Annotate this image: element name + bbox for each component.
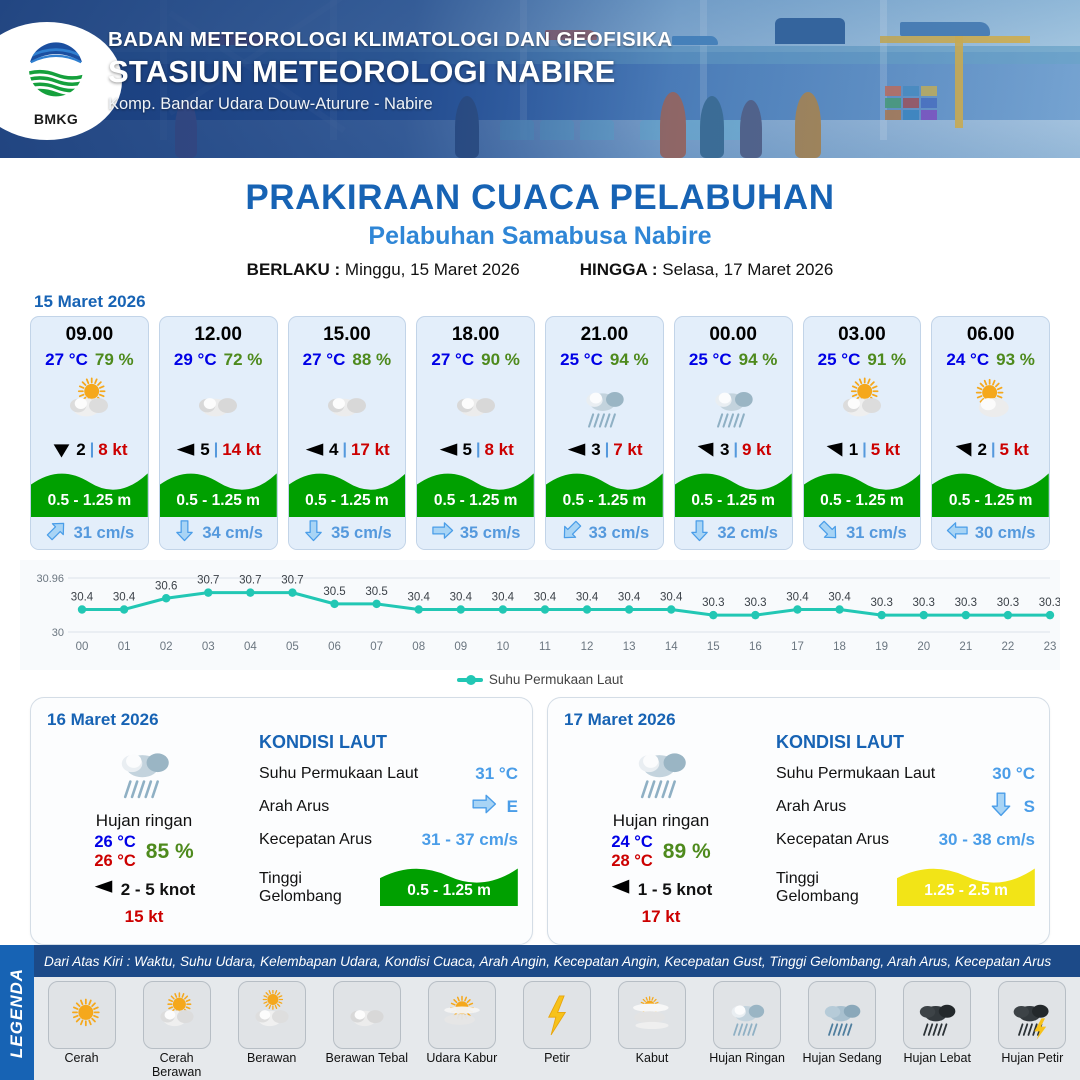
humidity: 89 % [663,840,711,864]
sea-row-value: E [507,797,518,817]
svg-text:21: 21 [959,641,972,653]
weather-icon-berawan-sun [245,990,299,1040]
wind-direction-arrow [610,877,631,903]
wind-direction-arrow [51,440,72,461]
separator: | [605,441,609,459]
forecast-time: 06.00 [932,324,1049,346]
wind-direction-icon-W [566,440,587,461]
gust-speed: 8 kt [98,440,127,460]
air-temperature: 25 °C [818,350,861,370]
weather-icon-cerah [55,990,109,1040]
wave-height-band: 0.5 - 1.25 m [31,461,148,517]
gust-speed: 17 kt [351,440,390,460]
svg-text:30.4: 30.4 [450,592,473,604]
gust-speed: 8 kt [484,440,513,460]
legend-item-label: Berawan [230,1051,314,1065]
wind-direction-icon-SW [695,440,716,461]
daily-date: 17 Maret 2026 [564,710,1033,730]
legend-item: Udara Kabur [420,981,504,1065]
hourly-forecast-card[interactable]: 00.00 25 °C 94 % 3 | 9 kt 0.5 - 1.25 m [674,316,793,550]
svg-text:30.4: 30.4 [534,592,557,604]
weather-icon-berawan [445,375,507,432]
weather-condition-label: Hujan ringan [49,811,239,831]
max-temperature: 26 °C [94,852,135,870]
svg-text:30.4: 30.4 [828,592,851,604]
svg-text:01: 01 [118,641,131,653]
wave-height-value: 0.5 - 1.25 m [160,492,277,510]
svg-text:10: 10 [496,641,509,653]
legend-item: Berawan [230,981,314,1065]
weather-condition-icon [566,732,756,809]
weather-icon-hujan-ringan [105,732,183,804]
wind-speed: 2 [76,440,85,460]
sea-row-label: Suhu Permukaan Laut [259,765,418,783]
current-direction-icon-S [173,519,196,542]
svg-text:23: 23 [1044,641,1057,653]
humidity: 94 % [739,350,778,370]
min-temperature: 24 °C [611,833,652,851]
wind-direction-arrow [438,440,459,461]
humidity: 85 % [146,840,194,864]
svg-text:18: 18 [833,641,846,653]
hourly-forecast-card[interactable]: 09.00 27 °C 79 % 2 | 8 kt 0.5 - 1.25 m 3… [30,316,149,550]
air-temperature: 25 °C [689,350,732,370]
weather-icon-berawan [187,375,249,432]
wave-height-band: 0.5 - 1.25 m [380,858,518,906]
svg-text:30.4: 30.4 [408,592,431,604]
sea-row-value: S [1024,797,1035,817]
legend-item-icon [618,981,686,1049]
current-speed: 33 cm/s [589,524,650,543]
svg-text:30.4: 30.4 [113,592,136,604]
wave-height-band: 0.5 - 1.25 m [932,461,1049,517]
wind-direction-icon-W [304,440,325,461]
current-direction-icon-W [946,519,969,542]
svg-text:04: 04 [244,641,257,653]
svg-text:30.4: 30.4 [660,592,683,604]
air-temperature: 27 °C [303,350,346,370]
wave-height-band: 0.5 - 1.25 m [546,461,663,517]
weather-icon-cerah-berawan [58,375,120,432]
header-station-name: STASIUN METEOROLOGI NABIRE [108,54,672,90]
wave-height-value: 0.5 - 1.25 m [675,492,792,510]
separator: | [862,441,866,459]
weather-icon-kabut [625,990,679,1040]
legend-item: Hujan Ringan [705,981,789,1065]
bmkg-logo-text: BMKG [17,111,95,127]
current-direction-icon-S [988,791,1014,817]
svg-text:30.7: 30.7 [281,575,303,587]
svg-text:30.3: 30.3 [1039,597,1060,609]
weather-icon-hujan-sedang [815,990,869,1040]
berlaku-label: BERLAKU : [247,260,341,279]
wind-direction-icon-S [51,440,72,461]
svg-text:11: 11 [539,641,551,653]
air-temperature: 25 °C [560,350,603,370]
legend-item-icon [998,981,1066,1049]
gust-speed: 7 kt [613,440,642,460]
svg-text:09: 09 [454,641,467,653]
weather-icon-berawan [340,990,394,1040]
legend-item-icon [48,981,116,1049]
legend-side-title: LEGENDA [0,945,34,1080]
current-speed: 35 cm/s [331,524,392,543]
wind-speed: 5 [200,440,209,460]
wind-direction-arrow [175,440,196,461]
legend-note: Dari Atas Kiri : Waktu, Suhu Udara, Kele… [34,945,1080,977]
current-direction-arrow [431,519,454,547]
wave-height-value: 0.5 - 1.25 m [417,492,534,510]
current-direction-icon-E [431,519,454,542]
air-temperature: 24 °C [946,350,989,370]
weather-icon-petir [530,990,584,1040]
current-direction-icon-NE [45,519,68,542]
wind-direction-icon-W [438,440,459,461]
hourly-forecast-card[interactable]: 15.00 27 °C 88 % 4 | 17 kt 0.5 - 1.25 m … [288,316,407,550]
svg-text:30.5: 30.5 [323,586,345,598]
forecast-time: 18.00 [417,324,534,346]
daily-forecast-panel[interactable]: 17 Maret 2026 Hujan ringan 24 °C 28 °C 8… [547,697,1050,945]
current-direction-arrow [988,791,1014,822]
sea-row-value: 31 - 37 cm/s [422,830,518,850]
legend-item: Cerah [40,981,124,1065]
svg-text:30.5: 30.5 [365,586,387,598]
gust-speed: 17 kt [566,907,756,927]
svg-text:30.4: 30.4 [71,592,94,604]
air-temperature: 29 °C [174,350,217,370]
gust-speed: 5 kt [871,440,900,460]
wind-speed: 1 [849,440,858,460]
svg-text:30.96: 30.96 [36,573,64,585]
weather-condition-icon [31,373,148,435]
svg-text:30.3: 30.3 [702,597,724,609]
legend-item-icon [808,981,876,1049]
wind-direction-icon-W2 [610,877,631,898]
legend-item-icon [713,981,781,1049]
humidity: 93 % [996,350,1035,370]
current-direction-arrow [302,519,325,547]
air-temperature: 27 °C [431,350,474,370]
legend-item-icon [238,981,306,1049]
page-subtitle: Pelabuhan Samabusa Nabire [0,222,1080,251]
forecast-time: 09.00 [31,324,148,346]
separator: | [733,441,737,459]
wind-direction-icon-SW [824,440,845,461]
current-direction-arrow [45,519,68,547]
air-temperature: 27 °C [45,350,88,370]
humidity: 79 % [95,350,134,370]
wave-height-value: 1.25 - 2.5 m [897,882,1035,900]
wind-speed: 3 [720,440,729,460]
weather-icon-hujan-ringan [573,375,635,432]
berlaku-value: Minggu, 15 Maret 2026 [345,260,520,279]
hourly-forecast-card[interactable]: 12.00 29 °C 72 % 5 | 14 kt 0.5 - 1.25 m … [159,316,278,550]
page-title: PRAKIRAAN CUACA PELABUHAN [0,178,1080,218]
daily-forecast-panel[interactable]: 16 Maret 2026 Hujan ringan 26 °C 26 °C 8… [30,697,533,945]
legend-item-label: Berawan Tebal [325,1051,409,1065]
sea-row-label: Arah Arus [259,798,329,816]
legend-item-icon [523,981,591,1049]
svg-text:16: 16 [749,641,762,653]
bmkg-logo-icon [17,37,95,109]
hourly-forecast-card[interactable]: 21.00 25 °C 94 % 3 | 7 kt 0.5 - 1.25 m [545,316,664,550]
current-direction-icon-S [302,519,325,542]
current-speed: 35 cm/s [460,524,521,543]
current-speed: 30 cm/s [975,524,1036,543]
svg-text:30.4: 30.4 [618,592,641,604]
weather-icon-hujan-ringan [702,375,764,432]
legend-item-label: Kabut [610,1051,694,1065]
humidity: 72 % [224,350,263,370]
svg-text:20: 20 [917,641,930,653]
wave-height-band: 0.5 - 1.25 m [160,461,277,517]
current-direction-icon-S [688,519,711,542]
current-speed: 34 cm/s [202,524,263,543]
current-direction-icon-SE [817,519,840,542]
svg-text:30: 30 [52,627,64,639]
forecast-time: 03.00 [804,324,921,346]
separator: | [476,441,480,459]
wave-height-band: 0.5 - 1.25 m [417,461,534,517]
wind-speed-range: 1 - 5 knot [638,880,713,900]
weather-icon-hujan-petir [1005,990,1059,1040]
wave-height-value: 0.5 - 1.25 m [380,882,518,900]
wave-height-band: 1.25 - 2.5 m [897,858,1035,906]
wave-height-band: 0.5 - 1.25 m [289,461,406,517]
current-speed: 31 cm/s [74,524,135,543]
hourly-forecast-card[interactable]: 06.00 24 °C 93 % 2 | 5 kt 0.5 - 1.25 m 3… [931,316,1050,550]
weather-icon-cerah-berawan-2 [960,375,1022,432]
svg-text:30.3: 30.3 [870,597,892,609]
legend-item-label: Hujan Petir [990,1051,1074,1065]
weather-condition-icon [675,373,792,435]
wind-direction-arrow [695,440,716,461]
current-direction-arrow [560,519,583,547]
svg-text:30.6: 30.6 [155,580,177,592]
legend-item: Cerah Berawan [135,981,219,1079]
svg-text:03: 03 [202,641,215,653]
wind-direction-arrow [566,440,587,461]
hourly-date-label: 15 Maret 2026 [34,292,1080,312]
svg-text:30.7: 30.7 [197,575,219,587]
legend-item-label: Udara Kabur [420,1051,504,1065]
svg-text:30.3: 30.3 [997,597,1019,609]
gust-speed: 5 kt [999,440,1028,460]
svg-text:30.3: 30.3 [744,597,766,609]
weather-condition-icon [49,732,239,809]
legend-item-icon [333,981,401,1049]
svg-text:00: 00 [76,641,89,653]
separator: | [991,441,995,459]
sea-row-label: Kecepatan Arus [776,831,889,849]
hourly-forecast-card[interactable]: 18.00 27 °C 90 % 5 | 8 kt 0.5 - 1.25 m 3… [416,316,535,550]
gust-speed: 14 kt [222,440,261,460]
legend-item: Hujan Lebat [895,981,979,1065]
svg-text:15: 15 [707,641,720,653]
legend-item-label: Hujan Lebat [895,1051,979,1065]
wind-speed: 5 [463,440,472,460]
sea-row-value: 30 - 38 cm/s [939,830,1035,850]
wave-height-value: 0.5 - 1.25 m [804,492,921,510]
svg-text:30.7: 30.7 [239,575,261,587]
weather-condition-label: Hujan ringan [566,811,756,831]
svg-text:13: 13 [623,641,636,653]
forecast-time: 15.00 [289,324,406,346]
weather-icon-berawan [316,375,378,432]
sea-row-value: 31 °C [475,764,518,784]
svg-text:02: 02 [160,641,173,653]
hourly-forecast-row: 09.00 27 °C 79 % 2 | 8 kt 0.5 - 1.25 m 3… [0,316,1080,550]
wave-height-value: 0.5 - 1.25 m [546,492,663,510]
weather-icon-udara-kabur [435,990,489,1040]
legend-item: Kabut [610,981,694,1065]
wind-direction-icon-SW [953,440,974,461]
weather-icon-cerah-berawan [150,990,204,1040]
page-header: BMKG BADAN METEOROLOGI KLIMATOLOGI DAN G… [0,0,1080,158]
wind-direction-icon-W [175,440,196,461]
legend-item: Hujan Petir [990,981,1074,1065]
gust-speed: 15 kt [49,907,239,927]
sea-row-label: Tinggi Gelombang [776,870,897,906]
weather-icon-hujan-ringan [622,732,700,804]
wind-speed-range: 2 - 5 knot [121,880,196,900]
sea-row-value: 30 °C [992,764,1035,784]
current-direction-icon-SW [560,519,583,542]
sea-condition-title: KONDISI LAUT [776,732,1035,753]
wave-height-value: 0.5 - 1.25 m [932,492,1049,510]
wind-direction-arrow [953,440,974,461]
legend-item-label: Petir [515,1051,599,1065]
wave-height-band: 0.5 - 1.25 m [804,461,921,517]
weather-icon-hujan-lebat [910,990,964,1040]
current-direction-arrow [946,519,969,547]
svg-text:14: 14 [665,641,678,653]
wave-height-band: 0.5 - 1.25 m [675,461,792,517]
daily-date: 16 Maret 2026 [47,710,516,730]
weather-condition-icon [804,373,921,435]
legend-item-label: Cerah Berawan [135,1051,219,1079]
gust-speed: 9 kt [742,440,771,460]
min-temperature: 26 °C [94,833,135,851]
forecast-time: 00.00 [675,324,792,346]
humidity: 91 % [867,350,906,370]
legend-item: Petir [515,981,599,1065]
current-direction-arrow [817,519,840,547]
wind-direction-arrow [93,877,114,903]
weather-condition-icon [160,373,277,435]
wind-speed: 3 [591,440,600,460]
humidity: 88 % [352,350,391,370]
hourly-forecast-card[interactable]: 03.00 25 °C 91 % 1 | 5 kt 0.5 - 1.25 m 3… [803,316,922,550]
daily-forecast-row: 16 Maret 2026 Hujan ringan 26 °C 26 °C 8… [0,687,1080,945]
svg-text:12: 12 [581,641,594,653]
forecast-time: 21.00 [546,324,663,346]
svg-text:22: 22 [1002,641,1015,653]
svg-text:06: 06 [328,641,341,653]
max-temperature: 28 °C [611,852,652,870]
current-direction-arrow [688,519,711,547]
humidity: 94 % [610,350,649,370]
sea-row-label: Kecepatan Arus [259,831,372,849]
separator: | [342,441,346,459]
svg-text:30.3: 30.3 [955,597,977,609]
wind-direction-icon-W [93,877,114,898]
weather-condition-icon [417,373,534,435]
chart-legend: Suhu Permukaan Laut [0,672,1080,687]
wave-height-value: 0.5 - 1.25 m [289,492,406,510]
svg-text:30.3: 30.3 [913,597,935,609]
wind-speed: 4 [329,440,338,460]
header-org-name: BADAN METEOROLOGI KLIMATOLOGI DAN GEOFIS… [108,28,672,52]
svg-text:05: 05 [286,641,299,653]
legend-item: Hujan Sedang [800,981,884,1065]
weather-condition-icon [546,373,663,435]
svg-text:17: 17 [791,641,804,653]
wind-speed: 2 [978,440,987,460]
svg-text:19: 19 [875,641,888,653]
svg-text:30.4: 30.4 [492,592,515,604]
sst-chart: 30.96 3030.40030.40130.60230.70330.70430… [20,560,1060,670]
separator: | [90,441,94,459]
legend-item-label: Hujan Ringan [705,1051,789,1065]
wind-direction-arrow [304,440,325,461]
legend-item-label: Cerah [40,1051,124,1065]
hingga-value: Selasa, 17 Maret 2026 [662,260,833,279]
current-direction-arrow [471,791,497,822]
weather-condition-icon [932,373,1049,435]
svg-text:30.4: 30.4 [786,592,809,604]
sea-row-label: Suhu Permukaan Laut [776,765,935,783]
current-speed: 32 cm/s [717,524,778,543]
legend-item-icon [428,981,496,1049]
svg-text:30.4: 30.4 [576,592,599,604]
header-address: Komp. Bandar Udara Douw-Aturure - Nabire [108,95,672,114]
svg-text:07: 07 [370,641,383,653]
weather-condition-icon [289,373,406,435]
chart-legend-label: Suhu Permukaan Laut [489,672,623,687]
legend-section: LEGENDA Dari Atas Kiri : Waktu, Suhu Uda… [0,945,1080,1080]
wave-height-value: 0.5 - 1.25 m [31,492,148,510]
legend-item-icon [903,981,971,1049]
legend-item-icon [143,981,211,1049]
sst-chart-svg: 30.96 3030.40030.40130.60230.70330.70430… [20,560,1060,670]
svg-text:08: 08 [412,641,425,653]
validity-period: BERLAKU : Minggu, 15 Maret 2026 HINGGA :… [0,260,1080,280]
legend-item-label: Hujan Sedang [800,1051,884,1065]
sea-row-label: Arah Arus [776,798,846,816]
sea-condition-title: KONDISI LAUT [259,732,518,753]
separator: | [214,441,218,459]
current-speed: 31 cm/s [846,524,907,543]
chart-legend-marker [457,678,483,682]
forecast-time: 12.00 [160,324,277,346]
humidity: 90 % [481,350,520,370]
wind-direction-arrow [824,440,845,461]
legend-items-row: Cerah Cerah Berawan Berawan Berawan Teba… [34,977,1080,1080]
legend-item: Berawan Tebal [325,981,409,1065]
hingga-label: HINGGA : [580,260,658,279]
current-direction-icon-E [471,791,497,817]
weather-icon-cerah-berawan [831,375,893,432]
current-direction-arrow [173,519,196,547]
weather-icon-hujan-ringan [720,990,774,1040]
sea-row-label: Tinggi Gelombang [259,870,380,906]
